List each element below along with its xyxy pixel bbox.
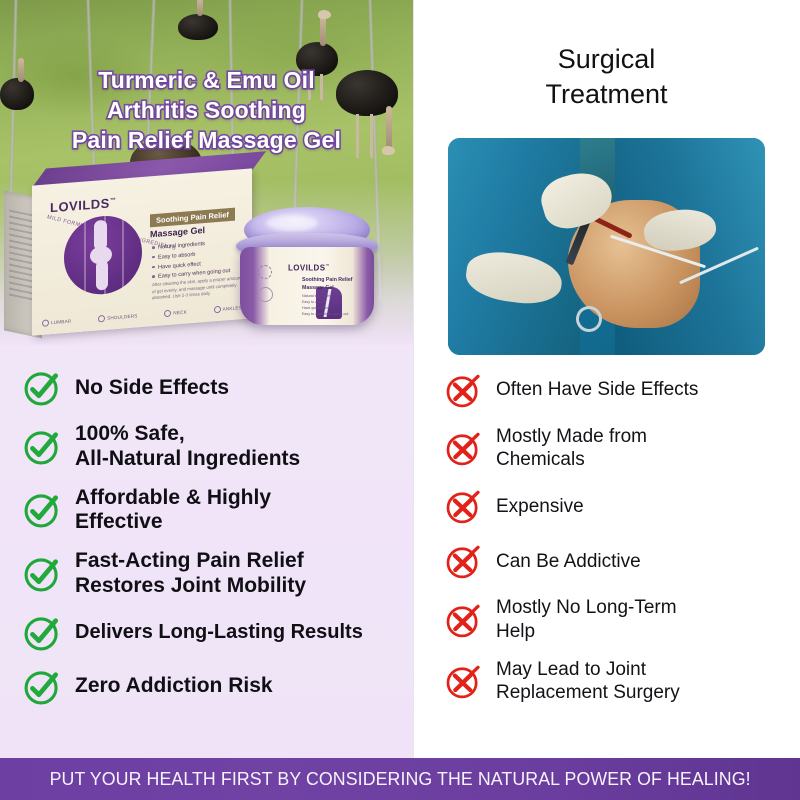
jar-seal-icon [258,265,272,279]
benefit-label: Delivers Long-Lasting Results [75,621,363,645]
body-part-neck: NECK [164,308,187,317]
benefit-item: No Side Effects [22,368,399,408]
body-part-lumbar: LUMBAR [42,318,71,327]
body-part-shoulders: SHOULDERS [98,312,137,322]
jar-brand-label: LOVILDS™ [288,263,330,273]
green-check-circle-icon [22,554,62,594]
column-divider [413,0,414,758]
green-check-circle-icon [22,490,62,530]
surgical-treatment-column: Surgical Treatment [413,0,800,758]
drawback-label: Can Be Addictive [496,550,641,573]
drawback-item: Expensive [443,486,788,526]
benefit-label: Zero Addiction Risk [75,674,273,699]
product-imagery: LOVILDS™ MILD FORMULA AND NATURAL INGRED… [0,155,413,355]
benefit-item: Zero Addiction Risk [22,667,399,707]
red-cross-circle-icon [443,661,483,701]
red-cross-circle-icon [443,600,483,640]
ankles-icon [214,306,221,314]
green-check-circle-icon [22,427,62,467]
benefit-label: 100% Safe, All-Natural Ingredients [75,422,300,472]
drawback-item: May Lead to Joint Replacement Surgery [443,658,788,704]
red-cross-circle-icon [443,428,483,468]
section-title-line-2: Treatment [413,77,800,112]
drawbacks-list: Often Have Side Effects Mostly Made from… [413,370,800,750]
box-product-subtitle: Massage Gel [150,225,205,239]
jar-bullets: Natural ingredients Easy to absorb Have … [302,293,348,317]
comparison-infographic: Turmeric & Emu Oil Arthritis Soothing Pa… [0,0,800,800]
title-line-3: Pain Relief Massage Gel [0,126,413,156]
shoulders-icon [98,315,105,323]
green-check-circle-icon [22,613,62,653]
benefit-label: Fast-Acting Pain Relief Restores Joint M… [75,549,306,599]
box-front-panel: LOVILDS™ MILD FORMULA AND NATURAL INGRED… [32,168,252,335]
box-body-part-icons: LUMBAR SHOULDERS NECK ANKLES [42,304,242,327]
box-product-tag: Soothing Pain Relief [150,208,235,228]
drawback-item: Can Be Addictive [443,541,788,581]
drawback-label: Expensive [496,495,584,518]
natural-product-column: Turmeric & Emu Oil Arthritis Soothing Pa… [0,0,413,758]
product-jar: LOVILDS™ Soothing Pain Relief Massage Ge… [236,213,378,333]
jar-weight-icon [258,287,273,302]
green-check-circle-icon [22,368,62,408]
drawback-item: Often Have Side Effects [443,370,788,410]
benefit-label: No Side Effects [75,376,229,401]
benefit-item: Affordable & Highly Effective [22,486,399,536]
section-title: Surgical Treatment [413,42,800,112]
title-line-2: Arthritis Soothing [0,96,413,126]
red-cross-circle-icon [443,541,483,581]
knee-surgery-photo [448,138,765,355]
green-check-circle-icon [22,667,62,707]
benefit-label: Affordable & Highly Effective [75,486,271,536]
surgical-drape-left [448,138,580,355]
benefit-item: 100% Safe, All-Natural Ingredients [22,422,399,472]
title-line-1: Turmeric & Emu Oil [0,66,413,96]
red-cross-circle-icon [443,486,483,526]
benefit-item: Fast-Acting Pain Relief Restores Joint M… [22,549,399,599]
neck-icon [164,310,171,318]
benefit-item: Delivers Long-Lasting Results [22,613,399,653]
red-cross-circle-icon [443,370,483,410]
banner-text: PUT YOUR HEALTH FIRST BY CONSIDERING THE… [49,768,750,790]
box-brand-label: LOVILDS™ [50,195,116,215]
lumbar-icon [42,319,49,327]
jar-bullet: Easy to carry when going out [302,311,348,317]
benefits-list: No Side Effects 100% Safe, All-Natural I… [0,368,413,750]
page-title: Turmeric & Emu Oil Arthritis Soothing Pa… [0,66,413,156]
drawback-label: May Lead to Joint Replacement Surgery [496,658,680,704]
drawback-label: Often Have Side Effects [496,378,698,401]
section-title-line-1: Surgical [413,42,800,77]
drawback-item: Mostly Made from Chemicals [443,425,788,471]
bottom-banner: PUT YOUR HEALTH FIRST BY CONSIDERING THE… [0,758,800,800]
jar-subtitle: Soothing Pain Relief Massage Gel [302,277,352,293]
comparison-columns: Turmeric & Emu Oil Arthritis Soothing Pa… [0,0,800,758]
drawback-label: Mostly No Long-Term Help [496,596,677,642]
drawback-item: Mostly No Long-Term Help [443,596,788,642]
drawback-label: Mostly Made from Chemicals [496,425,647,471]
product-box: LOVILDS™ MILD FORMULA AND NATURAL INGRED… [32,168,252,335]
jar-label: LOVILDS™ Soothing Pain Relief Massage Ge… [240,247,374,325]
